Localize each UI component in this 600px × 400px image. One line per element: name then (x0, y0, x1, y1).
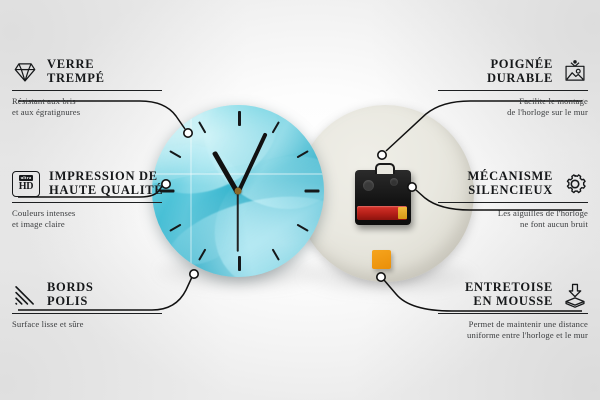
feature-title: POIGNÉE DURABLE (487, 58, 553, 85)
connector-endpoint-entretoise (377, 273, 385, 281)
feature-header: ultra HD IMPRESSION DE HAUTE QUALITÉ (12, 170, 227, 197)
feature-impression-haute-qualite: ultra HD IMPRESSION DE HAUTE QUALITÉ Cou… (12, 170, 227, 230)
ultra-hd-bottom-label: HD (19, 182, 34, 192)
feature-header: ENTRETOISE EN MOUSSE (373, 281, 588, 308)
feature-divider (438, 202, 588, 203)
feature-title: ENTRETOISE EN MOUSSE (465, 281, 553, 308)
feature-description: Surface lisse et sûre (12, 319, 227, 330)
feature-description: Facilite le montage de l'horloge sur le … (373, 96, 588, 118)
feature-verre-trempe: VERRE TREMPÉ Résistant aux bris et aux é… (12, 58, 227, 118)
feature-divider (12, 313, 162, 314)
feature-header: MÉCANISME SILENCIEUX (373, 170, 588, 197)
feature-entretoise-en-mousse: ENTRETOISE EN MOUSSE Permet de maintenir… (373, 281, 588, 341)
feature-divider (438, 313, 588, 314)
feature-mecanisme-silencieux: MÉCANISME SILENCIEUX Les aiguilles de l'… (373, 170, 588, 230)
ultra-hd-top-label: ultra (19, 175, 34, 181)
polished-edges-icon (12, 282, 38, 308)
feature-title: BORDS POLIS (47, 281, 94, 308)
feature-description: Permet de maintenir une distance uniform… (373, 319, 588, 341)
feature-description: Résistant aux bris et aux égratignures (12, 96, 227, 118)
feature-bords-polis: BORDS POLIS Surface lisse et sûre (12, 281, 227, 330)
feature-description: Couleurs intenses et image claire (12, 208, 227, 230)
diamond-icon (12, 59, 38, 85)
ultra-hd-icon: ultra HD (12, 171, 40, 197)
foam-spacer-icon (562, 282, 588, 308)
feature-divider (12, 202, 162, 203)
feature-description: Les aiguilles de l'horloge ne font aucun… (373, 208, 588, 230)
feature-header: POIGNÉE DURABLE (373, 58, 588, 85)
feature-header: VERRE TREMPÉ (12, 58, 227, 85)
feature-title: IMPRESSION DE HAUTE QUALITÉ (49, 170, 163, 197)
feature-title: VERRE TREMPÉ (47, 58, 105, 85)
connector-endpoint-verre-trempe (184, 129, 192, 137)
gear-icon (562, 171, 588, 197)
feature-poignee-durable: POIGNÉE DURABLE Facilite le montage de l… (373, 58, 588, 118)
feature-header: BORDS POLIS (12, 281, 227, 308)
feature-divider (12, 90, 162, 91)
picture-frame-hanger-icon (562, 59, 588, 85)
feature-divider (438, 90, 588, 91)
infographic-canvas: VERRE TREMPÉ Résistant aux bris et aux é… (0, 0, 600, 400)
feature-title: MÉCANISME SILENCIEUX (468, 170, 553, 197)
connector-endpoint-poignee (378, 151, 386, 159)
connector-endpoint-bords-polis (190, 270, 198, 278)
